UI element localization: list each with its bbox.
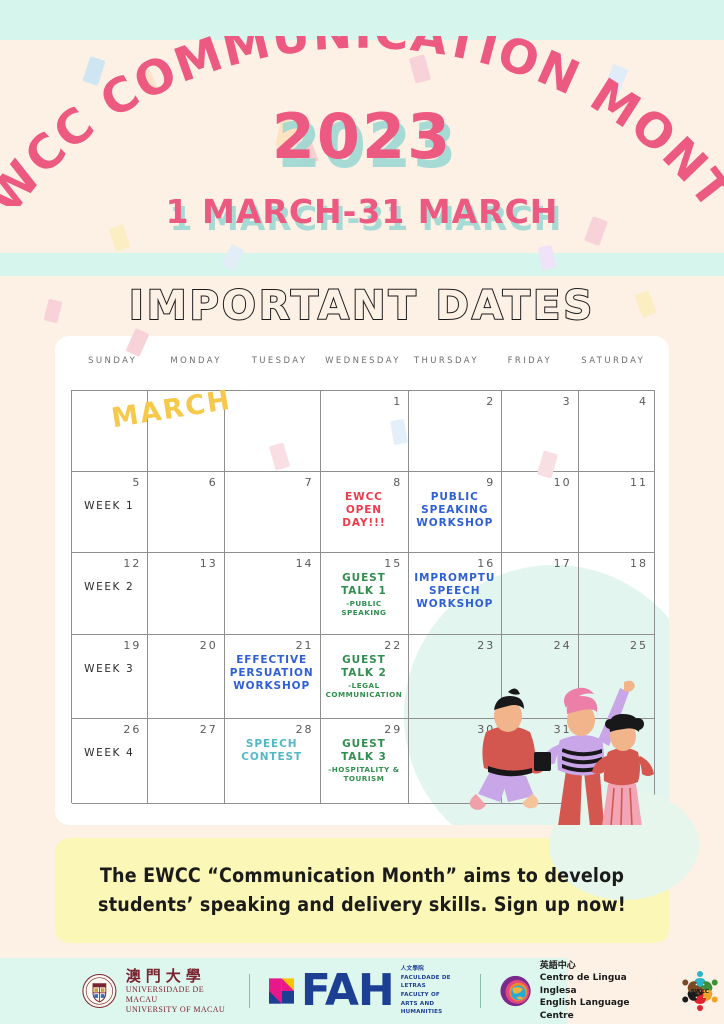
event-label[interactable]: GUEST TALK 3-HOSPITALITY & TOURISM [326, 738, 403, 783]
fah-name-cn: 人文學院 [401, 965, 466, 974]
top-mint-band [0, 0, 724, 40]
calendar-cell: 11 [579, 472, 655, 553]
day-number: 20 [153, 640, 217, 651]
people-illustration [448, 644, 663, 825]
calendar-cell: 13 [148, 553, 224, 635]
elc-globe-icon [500, 974, 531, 1008]
fah-name-pt: FACULDADE DE LETRAS [401, 974, 466, 991]
calendar-cell: 21EFFECTIVE PERSUATION WORKSHOP [225, 635, 321, 719]
day-number: 2 [414, 396, 495, 407]
day-number: 26 [77, 724, 141, 735]
calendar-cell: 22GUEST TALK 2-LEGAL COMMUNICATION [321, 635, 410, 719]
footer-logos: 澳門大學 UNIVERSIDADE DE MACAU UNIVERSITY OF… [0, 958, 724, 1024]
calendar-cell: 20 [148, 635, 224, 719]
event-label[interactable]: SPEECH CONTEST [230, 738, 314, 764]
calendar-cell: 7 [225, 472, 321, 553]
day-number: 14 [230, 558, 314, 569]
ewcc-people-icon: EWCC [676, 967, 724, 1015]
middle-mint-band [0, 253, 724, 276]
logo-english-language-centre: 英語中心 Centro de Lingua Inglesa English La… [500, 960, 656, 1022]
calendar-cell: 14 [225, 553, 321, 635]
event-sublabel: -LEGAL COMMUNICATION [326, 681, 403, 699]
day-header: FRIDAY [488, 356, 571, 376]
description-text: The EWCC “Communication Month” aims to d… [82, 862, 642, 920]
ewcc-wordmark: EWCC [691, 989, 709, 995]
day-header: THURSDAY [405, 356, 488, 376]
day-number: 13 [153, 558, 217, 569]
day-number: 29 [326, 724, 403, 735]
elc-name-cn: 英語中心 [540, 960, 656, 972]
person-kneeling [470, 688, 544, 809]
logo-ewcc: EWCC [676, 967, 724, 1015]
footer-divider [249, 974, 250, 1008]
fah-wordmark: FAH [301, 969, 394, 1013]
event-label[interactable]: GUEST TALK 1-PUBLIC SPEAKING [326, 572, 403, 617]
day-number: 8 [326, 477, 403, 488]
description-banner: The EWCC “Communication Month” aims to d… [55, 838, 669, 943]
um-name-cn: 澳門大學 [126, 967, 229, 986]
calendar-cell: 17 [502, 553, 578, 635]
week-label: WEEK 1 [77, 500, 141, 512]
day-number: 16 [414, 558, 495, 569]
elc-name-en: English Language Centre [540, 997, 656, 1022]
calendar-cell: 29GUEST TALK 3-HOSPITALITY & TOURISM [321, 719, 410, 804]
fah-mark-icon [269, 976, 294, 1006]
logo-fah: FAH 人文學院 FACULDADE DE LETRAS FACULTY OF … [269, 965, 466, 1017]
day-number: 12 [77, 558, 141, 569]
calendar-cell: 15GUEST TALK 1-PUBLIC SPEAKING [321, 553, 410, 635]
event-label[interactable]: EFFECTIVE PERSUATION WORKSHOP [230, 654, 314, 693]
calendar-cell: 9PUBLIC SPEAKING WORKSHOP [409, 472, 502, 553]
day-number: 27 [153, 724, 217, 735]
calendar-cell: 28SPEECH CONTEST [225, 719, 321, 804]
day-number: 19 [77, 640, 141, 651]
calendar-card: SUNDAY MONDAY TUESDAY WEDNESDAY THURSDAY… [55, 336, 669, 825]
day-number: 11 [584, 477, 648, 488]
day-header: TUESDAY [238, 356, 321, 376]
day-number: 6 [153, 477, 217, 488]
footer-divider [480, 974, 481, 1008]
day-number: 4 [584, 396, 648, 407]
calendar-cell: 16IMPROMPTU SPEECH WORKSHOP [409, 553, 502, 635]
date-range-text: 1 MARCH-31 MARCH [0, 192, 724, 231]
year-text: 2023 [0, 100, 724, 173]
calendar-cell: 6 [148, 472, 224, 553]
calendar-cell: 12WEEK 2 [72, 553, 148, 635]
calendar-cell: 5WEEK 1 [72, 472, 148, 553]
day-number: 18 [584, 558, 648, 569]
calendar-cell: 8EWCC OPEN DAY!!! [321, 472, 410, 553]
day-of-week-header-row: SUNDAY MONDAY TUESDAY WEDNESDAY THURSDAY… [71, 356, 655, 376]
day-number: 5 [77, 477, 141, 488]
day-header: WEDNESDAY [321, 356, 404, 376]
calendar-cell: 18 [579, 553, 655, 635]
day-header: SATURDAY [572, 356, 655, 376]
um-name-en: UNIVERSITY OF MACAU [126, 1005, 229, 1015]
elc-text-block: 英語中心 Centro de Lingua Inglesa English La… [540, 960, 656, 1022]
day-number: 15 [326, 558, 403, 569]
day-header: MONDAY [154, 356, 237, 376]
calendar-cell: 2 [409, 391, 502, 472]
elc-name-pt: Centro de Lingua Inglesa [540, 972, 656, 997]
calendar-cell: 4 [579, 391, 655, 472]
poster-root: EWCC COMMUNICATION MONTH 2023 1 MARCH-31… [0, 0, 724, 1024]
calendar-cell: 27 [148, 719, 224, 804]
calendar-cell: 19WEEK 3 [72, 635, 148, 719]
day-number: 10 [507, 477, 571, 488]
day-number: 22 [326, 640, 403, 651]
fah-name-en1: FACULTY OF [401, 991, 466, 1000]
event-sublabel: -PUBLIC SPEAKING [326, 599, 403, 617]
week-label: WEEK 2 [77, 581, 141, 593]
logo-university-of-macau: 澳門大學 UNIVERSIDADE DE MACAU UNIVERSITY OF… [82, 967, 229, 1016]
fah-name-en2: ARTS AND HUMANITIES [401, 1000, 466, 1017]
week-label: WEEK 3 [77, 663, 141, 675]
um-name-pt: UNIVERSIDADE DE MACAU [126, 985, 229, 1005]
week-label: WEEK 4 [77, 747, 141, 759]
event-sublabel: -HOSPITALITY & TOURISM [326, 765, 403, 783]
fah-subtext-block: 人文學院 FACULDADE DE LETRAS FACULTY OF ARTS… [401, 965, 466, 1017]
event-label[interactable]: EWCC OPEN DAY!!! [326, 491, 403, 530]
day-number: 17 [507, 558, 571, 569]
calendar-cell: 10 [502, 472, 578, 553]
day-number: 9 [414, 477, 495, 488]
um-text-block: 澳門大學 UNIVERSIDADE DE MACAU UNIVERSITY OF… [126, 967, 229, 1016]
event-label[interactable]: GUEST TALK 2-LEGAL COMMUNICATION [326, 654, 403, 699]
day-number: 1 [326, 396, 403, 407]
event-label[interactable]: IMPROMPTU SPEECH WORKSHOP [414, 572, 495, 611]
day-number: 21 [230, 640, 314, 651]
day-number: 7 [230, 477, 314, 488]
calendar-cell: 26WEEK 4 [72, 719, 148, 804]
day-number: 3 [507, 396, 571, 407]
page-title: IMPORTANT DATES [0, 283, 724, 329]
um-crest-icon [82, 972, 117, 1010]
day-header: SUNDAY [71, 356, 154, 376]
event-label[interactable]: PUBLIC SPEAKING WORKSHOP [414, 491, 495, 530]
day-number: 28 [230, 724, 314, 735]
